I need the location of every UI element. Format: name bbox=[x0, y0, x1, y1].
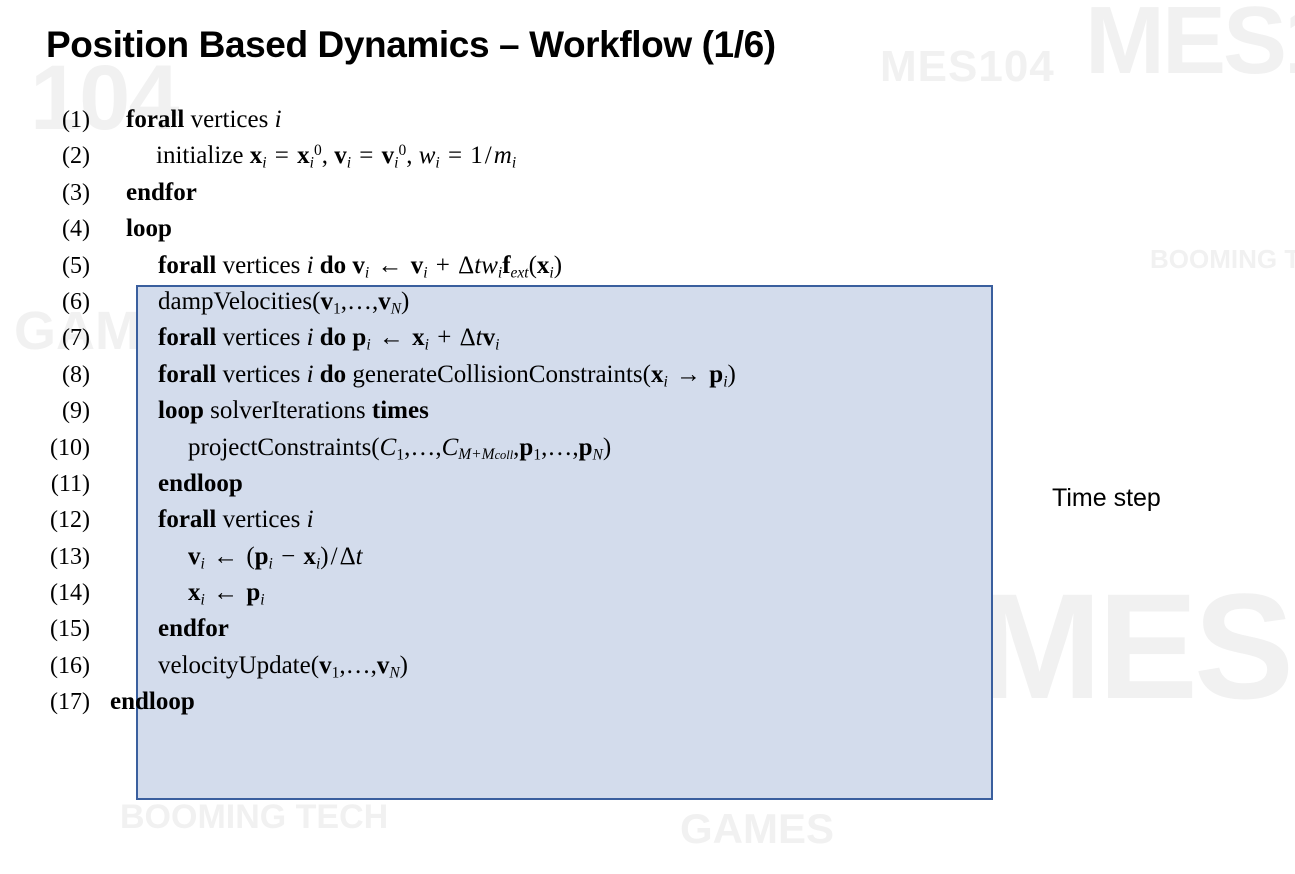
line-code: initialize xi = xi0, vi = vi0, wi = 1/mi bbox=[104, 142, 1010, 170]
line-number: (14) bbox=[0, 580, 104, 607]
line-code: forall vertices i do vi ← vi + Δtwifext(… bbox=[104, 252, 1010, 280]
line-number: (4) bbox=[0, 216, 104, 243]
algorithm-line: (9) loop solverIterations times bbox=[0, 397, 1010, 433]
algorithm-line: (12) forall vertices i bbox=[0, 506, 1010, 542]
algorithm-line: (2) initialize xi = xi0, vi = vi0, wi = … bbox=[0, 142, 1010, 178]
line-code: projectConstraints(C1,…,CM+Mcoll,p1,…,pN… bbox=[104, 434, 1010, 462]
page-title: Position Based Dynamics – Workflow (1/6) bbox=[46, 24, 776, 66]
algorithm-line: (14) xi ← pi bbox=[0, 579, 1010, 615]
line-number: (9) bbox=[0, 398, 104, 425]
time-step-annotation: Time step bbox=[1052, 484, 1161, 513]
watermark-top-center: MES104 bbox=[880, 42, 1055, 92]
line-number: (12) bbox=[0, 507, 104, 534]
algorithm-line: (5) forall vertices i do vi ← vi + Δtwif… bbox=[0, 252, 1010, 288]
line-code: forall vertices i bbox=[104, 106, 1010, 134]
algorithm-line: (8) forall vertices i do generateCollisi… bbox=[0, 361, 1010, 397]
algorithm-listing: (1) forall vertices i (2) initialize xi … bbox=[0, 106, 1010, 725]
line-number: (1) bbox=[0, 107, 104, 134]
algorithm-line: (6) dampVelocities(v1,…,vN) bbox=[0, 288, 1010, 324]
algorithm-line: (10) projectConstraints(C1,…,CM+Mcoll,p1… bbox=[0, 434, 1010, 470]
algorithm-line: (4) loop bbox=[0, 215, 1010, 251]
algorithm-line: (13) vi ← (pi − xi)/Δt bbox=[0, 543, 1010, 579]
line-number: (6) bbox=[0, 289, 104, 316]
line-code: loop solverIterations times bbox=[104, 397, 1010, 425]
line-number: (10) bbox=[0, 435, 104, 462]
watermark-bottom-left: BOOMING TECH bbox=[120, 800, 388, 836]
line-number: (17) bbox=[0, 689, 104, 716]
algorithm-line: (1) forall vertices i bbox=[0, 106, 1010, 142]
algorithm-line: (17) endloop bbox=[0, 688, 1010, 724]
algorithm-line: (11) endloop bbox=[0, 470, 1010, 506]
line-number: (16) bbox=[0, 653, 104, 680]
line-code: loop bbox=[104, 215, 1010, 243]
line-code: forall vertices i do pi ← xi + Δtvi bbox=[104, 324, 1010, 352]
line-code: dampVelocities(v1,…,vN) bbox=[104, 288, 1010, 316]
line-code: vi ← (pi − xi)/Δt bbox=[104, 543, 1010, 571]
line-code: endfor bbox=[104, 615, 1010, 643]
line-number: (3) bbox=[0, 180, 104, 207]
algorithm-line: (15) endfor bbox=[0, 615, 1010, 651]
watermark-top-right: MES104 bbox=[1085, 0, 1295, 96]
watermark-right-upper: BOOMING TECH bbox=[1150, 245, 1295, 274]
line-code: endloop bbox=[104, 470, 1010, 498]
line-number: (2) bbox=[0, 143, 104, 170]
line-code: forall vertices i bbox=[104, 506, 1010, 534]
line-number: (11) bbox=[0, 471, 104, 498]
line-number: (13) bbox=[0, 544, 104, 571]
line-number: (15) bbox=[0, 616, 104, 643]
algorithm-line: (7) forall vertices i do pi ← xi + Δtvi bbox=[0, 324, 1010, 360]
line-number: (7) bbox=[0, 325, 104, 352]
line-code: velocityUpdate(v1,…,vN) bbox=[104, 652, 1010, 680]
algorithm-line: (16) velocityUpdate(v1,…,vN) bbox=[0, 652, 1010, 688]
watermark-bottom-mid: GAMES bbox=[680, 805, 834, 853]
line-code: endfor bbox=[104, 179, 1010, 207]
line-number: (8) bbox=[0, 362, 104, 389]
line-code: endloop bbox=[104, 688, 1010, 716]
line-number: (5) bbox=[0, 253, 104, 280]
line-code: forall vertices i do generateCollisionCo… bbox=[104, 361, 1010, 389]
line-code: xi ← pi bbox=[104, 579, 1010, 607]
algorithm-line: (3) endfor bbox=[0, 179, 1010, 215]
